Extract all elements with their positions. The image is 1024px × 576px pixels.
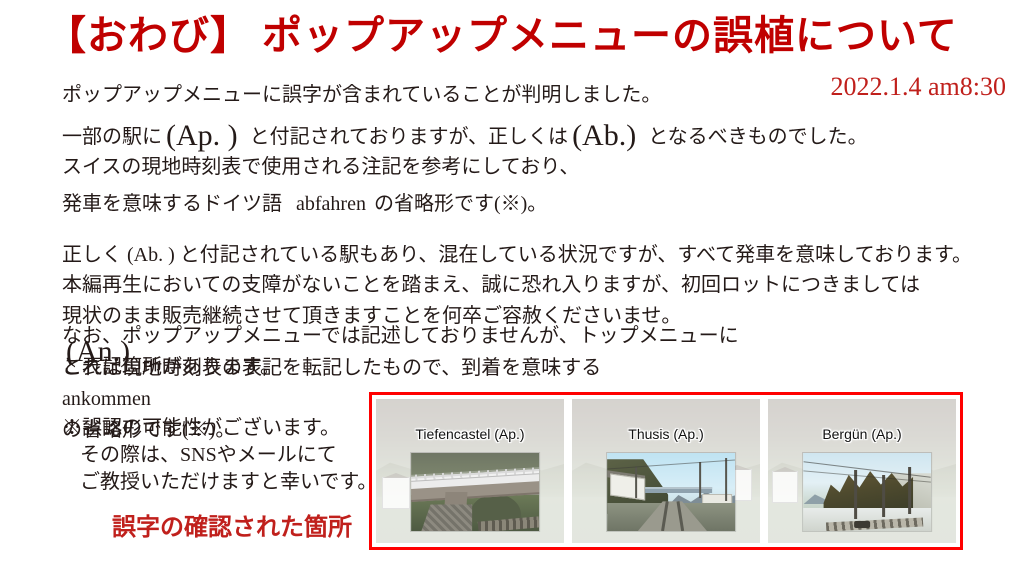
thumb-catenary-pole bbox=[882, 475, 885, 517]
photo-thumbnail-snow bbox=[803, 453, 931, 531]
thumb-catenary-pole bbox=[725, 458, 727, 502]
note-line-3: ご教授いただけますと幸いです。 bbox=[62, 469, 377, 496]
paragraph-c-line-1: なお、ポップアップメニューでは記述しておりませんが、トップメニューに(An.)と… bbox=[62, 321, 739, 353]
photo-thumbnail-viaduct bbox=[411, 453, 539, 531]
paragraph-b-line-1: 正しく (Ab. ) と付記されている駅もあり、混在している状況ですが、すべて発… bbox=[62, 240, 972, 270]
photo-panel-thusis[interactable]: ) Thusis (Ap.) bbox=[572, 399, 760, 543]
station-label-thusis: Thusis (Ap.) bbox=[572, 426, 760, 442]
thumb-catenary-pole bbox=[854, 470, 857, 518]
pa-l3-german: abfahren bbox=[296, 193, 366, 215]
note-line-2: その際は、SNSやメールにて bbox=[62, 442, 377, 469]
errata-photo-frame: Tiefencastel (Ap.) bbox=[369, 392, 963, 550]
errata-photo-row: Tiefencastel (Ap.) bbox=[376, 399, 956, 543]
errata-caption: 誤字の確認された箇所 bbox=[112, 516, 352, 540]
pa-l1-after: となるべきものでした。 bbox=[648, 126, 867, 148]
station-label-berguen: Bergün (Ap.) bbox=[768, 426, 956, 442]
photo-thumbnail-track bbox=[607, 453, 735, 531]
thumb-catenary-pole bbox=[635, 467, 637, 498]
paragraph-b-line-2: 本編再生においての支障がないことを踏まえ、誠に恐れ入りますが、初回ロットにつきま… bbox=[62, 270, 972, 300]
token-ap-wrong: (Ap. ) bbox=[162, 119, 242, 152]
paragraph-a-line-2: スイスの現地時刻表で使用される注記を参考にしており、 bbox=[62, 152, 868, 183]
thumb-vehicle bbox=[854, 521, 870, 528]
paragraph-a: 一部の駅に(Ap. )と付記されておりますが、正しくは(Ab.)となるべきもので… bbox=[62, 122, 868, 220]
pa-l1-middle: と付記されておりますが、正しくは bbox=[250, 126, 568, 148]
pc-l2-before: これは現地時刻表の表記を転記したもので、到着を意味する bbox=[62, 353, 739, 384]
date-stamp: 2022.1.4 am8:30 bbox=[831, 74, 1007, 100]
thumb-catenary-pole bbox=[699, 462, 701, 498]
photo-panel-berguen[interactable]: Bergün (Ap.) bbox=[768, 399, 956, 543]
pa-l1-before: 一部の駅に bbox=[62, 126, 162, 148]
page-title: 【おわび】 ポップアップメニューの誤植について bbox=[46, 14, 958, 58]
slide-root: 【おわび】 ポップアップメニューの誤植について 2022.1.4 am8:30 … bbox=[0, 0, 1024, 576]
station-label-tiefencastel: Tiefencastel (Ap.) bbox=[376, 426, 564, 442]
pa-l3-before: 発車を意味するドイツ語 bbox=[62, 193, 282, 215]
paragraph-a-line-3: 発車を意味するドイツ語abfahrenの省略形です(※)。 bbox=[62, 189, 868, 220]
thumb-overpass bbox=[646, 487, 713, 493]
token-ab-correct: (Ab.) bbox=[568, 119, 640, 152]
note-block: ※誤認の可能性がございます。 その際は、SNSやメールにて ご教授いただけますと… bbox=[62, 415, 377, 497]
paragraph-b: 正しく (Ab. ) と付記されている駅もあり、混在している状況ですが、すべて発… bbox=[62, 240, 972, 331]
paragraph-a-line-1: 一部の駅に(Ap. )と付記されておりますが、正しくは(Ab.)となるべきもので… bbox=[62, 122, 868, 152]
pa-l3-after: の省略形です(※)。 bbox=[374, 193, 547, 215]
photo-panel-tiefencastel[interactable]: Tiefencastel (Ap.) bbox=[376, 399, 564, 543]
note-line-1: ※誤認の可能性がございます。 bbox=[62, 415, 377, 442]
pc-l1-before: なお、ポップアップメニューでは記述しておりませんが、トップメニューに bbox=[62, 321, 739, 352]
lead-sentence: ポップアップメニューに誤字が含まれていることが判明しました。 bbox=[62, 83, 661, 108]
